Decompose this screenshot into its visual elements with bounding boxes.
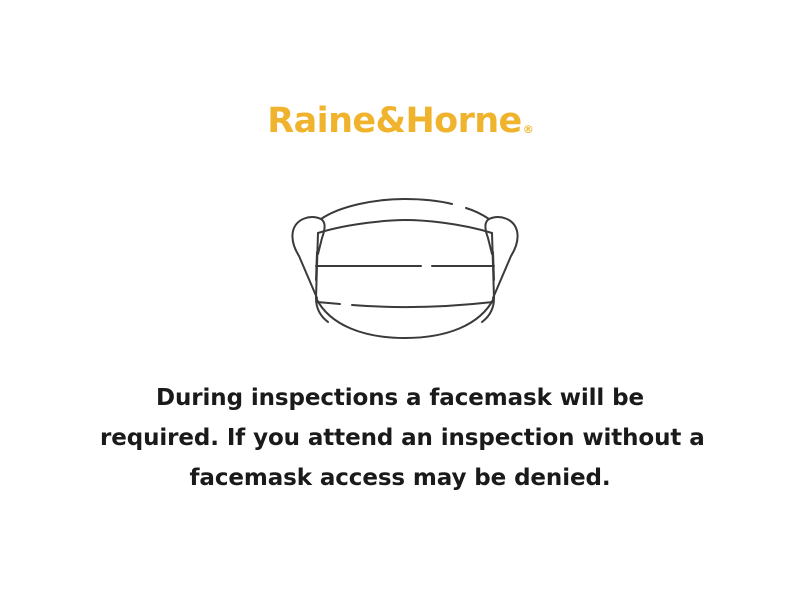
registered-trademark-icon: ®	[523, 124, 534, 135]
notice-line-1: During inspections a facemask will be	[100, 378, 700, 418]
facemask-icon	[280, 186, 530, 351]
facemask-notice-poster: Raine&Horne®	[0, 0, 800, 600]
brand-wordmark: Raine&Horne	[267, 104, 521, 139]
notice-line-2: required. If you attend an inspection wi…	[100, 418, 700, 458]
notice-line-3: facemask access may be denied.	[100, 458, 700, 498]
notice-message: During inspections a facemask will be re…	[100, 378, 700, 498]
brand-logo: Raine&Horne®	[0, 104, 800, 139]
